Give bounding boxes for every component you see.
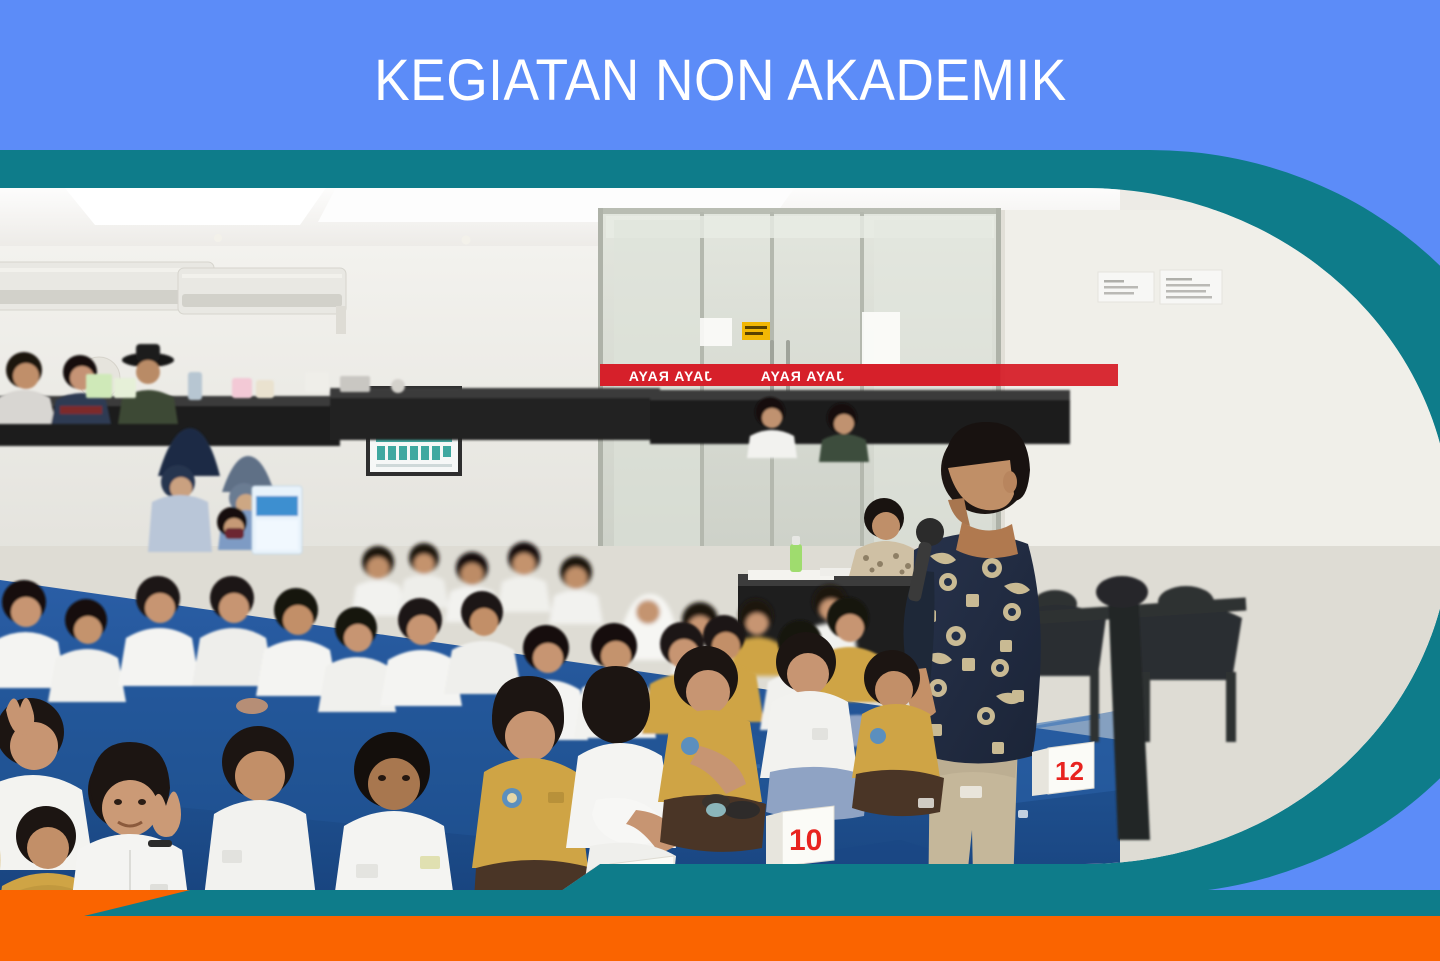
red-wall-stripe: JAYA RAYA JAYA RAYA — [600, 364, 1118, 386]
teal-bottom-band — [0, 890, 1440, 916]
page-title: KEGIATAN NON AKADEMIK — [374, 52, 1067, 110]
activity-photo: JAYA RAYA JAYA RAYA — [0, 150, 1440, 940]
svg-text:JAYA RAYA: JAYA RAYA — [628, 368, 712, 384]
wristband — [148, 840, 172, 847]
photo-content: JAYA RAYA JAYA RAYA — [0, 180, 1440, 940]
downlight — [214, 234, 222, 242]
svg-text:12: 12 — [1055, 756, 1084, 786]
svg-text:JAYA RAYA: JAYA RAYA — [760, 368, 844, 384]
number-card-10: 10 — [766, 806, 834, 868]
number-card-12: 12 — [1032, 742, 1094, 796]
wall-notice — [1098, 270, 1222, 304]
page-title-bar: KEGIATAN NON AKADEMIK — [0, 0, 1440, 155]
poster-canvas: KEGIATAN NON AKADEMIK — [0, 0, 1440, 961]
drink-cooler — [252, 486, 302, 554]
microphone-head — [916, 518, 944, 546]
exit-sign — [742, 322, 770, 340]
svg-text:10: 10 — [789, 824, 822, 857]
ceiling-light-cove — [60, 182, 330, 225]
downlight — [462, 236, 471, 245]
